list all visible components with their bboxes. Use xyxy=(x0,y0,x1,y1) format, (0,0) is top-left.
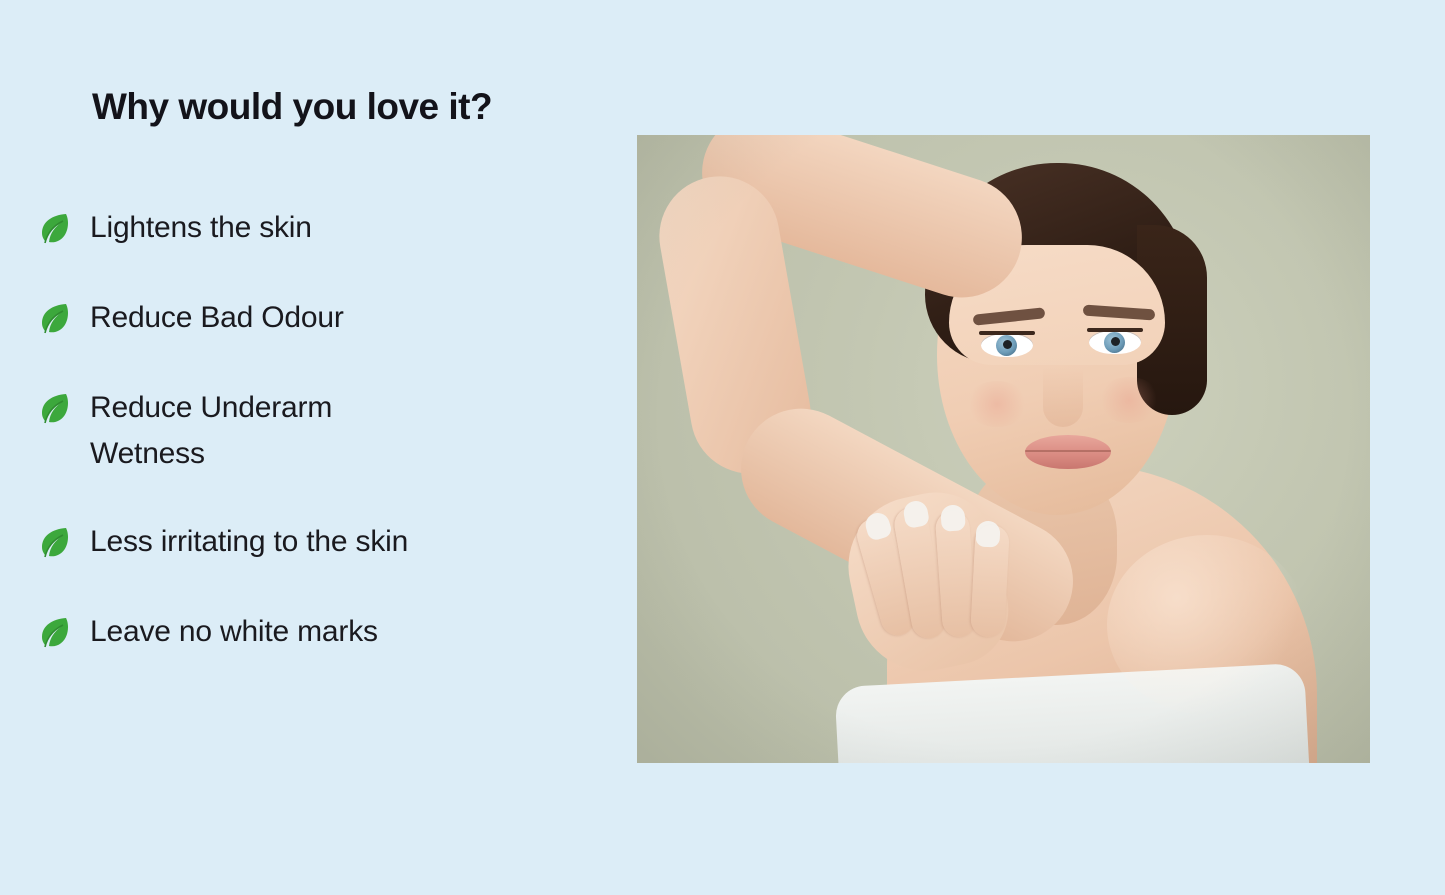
benefit-label: Leave no white marks xyxy=(72,609,378,655)
list-item: Leave no white marks xyxy=(36,609,606,655)
list-item: Reduce Underarm Wetness xyxy=(36,385,606,477)
list-item: Less irritating to the skin xyxy=(36,519,606,565)
leaf-icon xyxy=(36,613,72,653)
page-title: Why would you love it? xyxy=(92,86,492,128)
model-underarm-photo xyxy=(637,135,1370,763)
leaf-icon xyxy=(36,209,72,249)
list-item: Lightens the skin xyxy=(36,205,606,251)
leaf-icon xyxy=(36,389,72,429)
list-item: Reduce Bad Odour xyxy=(36,295,606,341)
benefit-label: Lightens the skin xyxy=(72,205,312,251)
benefit-label: Reduce Bad Odour xyxy=(72,295,344,341)
benefit-label: Less irritating to the skin xyxy=(72,519,408,565)
photo-vignette xyxy=(637,135,1370,763)
benefit-label: Reduce Underarm Wetness xyxy=(72,385,450,477)
benefits-list: Lightens the skin Reduce Bad Odour xyxy=(36,205,606,699)
product-benefits-banner: Why would you love it? Lightens the skin xyxy=(0,0,1445,895)
leaf-icon xyxy=(36,299,72,339)
leaf-icon xyxy=(36,523,72,563)
benefits-column: Why would you love it? Lightens the skin xyxy=(0,0,640,895)
